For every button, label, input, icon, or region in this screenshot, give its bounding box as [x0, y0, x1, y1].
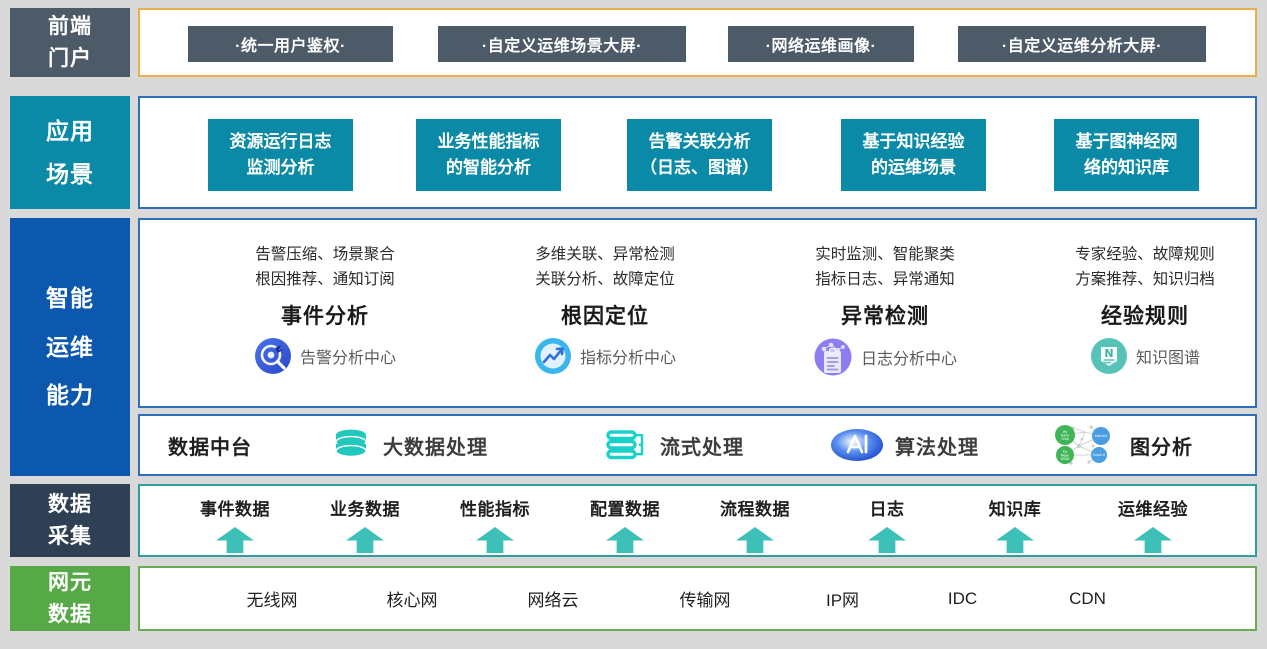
database-icon [330, 428, 372, 462]
collect-item-business-data[interactable]: 业务数据 [296, 486, 434, 555]
net-item-wireless-network[interactable]: 无线网 [212, 568, 332, 629]
collect-item-label: 事件数据 [200, 495, 270, 520]
app-card-line: 告警关联分析 [649, 129, 751, 155]
capability-subtitle: 专家经验、故障规则 [1020, 242, 1267, 267]
net-item-label: 传输网 [680, 586, 731, 611]
capability-subtitle: 实时监测、智能聚类 [760, 242, 1010, 267]
svg-text:N: N [1104, 347, 1113, 360]
data-platform-title: 数据中台 [168, 431, 252, 460]
capability-column-anomaly-detection: 实时监测、智能聚类 指标日志、异常通知 异常检测 [760, 242, 1010, 377]
category-label-line: 数据 [48, 489, 92, 521]
portal-chip-custom-ops-dashboard[interactable]: ·自定义运维场景大屏· [438, 26, 686, 62]
net-item-cdn[interactable]: CDN [1035, 568, 1140, 629]
arrow-up-icon [216, 527, 254, 553]
arrow-up-icon [868, 527, 906, 553]
category-label-line: 运维 [46, 330, 94, 365]
graph-network-icon: IPvNetwGrap FloMeanSNGB Liberate Graph-K [1045, 422, 1119, 468]
arrow-up-icon [476, 527, 514, 553]
app-card-line: 资源运行日志 [230, 129, 332, 155]
net-item-label: 核心网 [387, 586, 438, 611]
collect-item-label: 配置数据 [590, 495, 660, 520]
capability-subtitle: 告警压缩、场景聚合 [200, 242, 450, 267]
portal-panel: ·统一用户鉴权· ·自定义运维场景大屏· ·网络运维画像· ·自定义运维分析大屏… [138, 8, 1257, 77]
category-label-intelligent-ops-capability: 智能 运维 能力 [10, 218, 130, 476]
category-label-frontend-portal: 前端 门户 [10, 8, 130, 77]
capability-subtitle: 关联分析、故障定位 [480, 267, 730, 292]
svg-text:Grap: Grap [1061, 437, 1069, 441]
svg-text:SNGB: SNGB [1061, 457, 1070, 461]
app-card-line: 监测分析 [247, 155, 315, 181]
collect-item-ops-experience[interactable]: 运维经验 [1084, 486, 1222, 555]
ai-capability-panel: 告警压缩、场景聚合 根因推荐、通知订阅 事件分析 [138, 218, 1257, 408]
chip-label: ·自定义运维场景大屏· [482, 32, 642, 56]
arrow-up-icon [996, 527, 1034, 553]
data-collection-panel: 事件数据 业务数据 性能指标 配置数据 流程数据 日志 知识库 运维经验 [138, 484, 1257, 557]
data-platform-item-algorithm[interactable]: 算法处理 [830, 416, 979, 474]
app-card-business-performance-analysis[interactable]: 业务性能指标 的智能分析 [416, 119, 561, 191]
collect-item-process-data[interactable]: 流程数据 [686, 486, 824, 555]
capability-title: 异常检测 [760, 300, 1010, 330]
net-item-label: 网络云 [528, 586, 579, 611]
category-label-line: 门户 [48, 43, 92, 75]
alarm-analysis-icon [254, 337, 292, 375]
data-platform-item-label: 图分析 [1130, 431, 1193, 460]
architecture-diagram: 前端 门户 ·统一用户鉴权· ·自定义运维场景大屏· ·网络运维画像· ·自定义… [0, 0, 1267, 649]
app-card-knowledge-based-ops[interactable]: 基于知识经验 的运维场景 [841, 119, 986, 191]
collect-item-event-data[interactable]: 事件数据 [166, 486, 304, 555]
data-platform-item-label: 大数据处理 [383, 431, 488, 460]
app-card-line: 基于图神经网 [1076, 129, 1178, 155]
app-card-gnn-knowledge-base[interactable]: 基于图神经网 络的知识库 [1054, 119, 1199, 191]
network-element-panel: 无线网 核心网 网络云 传输网 IP网 IDC CDN [138, 566, 1257, 631]
metric-analysis-icon [534, 337, 572, 375]
category-label-line: 能力 [46, 378, 94, 413]
collect-item-knowledge-base[interactable]: 知识库 [946, 486, 1084, 555]
data-platform-item-graph[interactable]: IPvNetwGrap FloMeanSNGB Liberate Graph-K… [1045, 416, 1193, 474]
data-platform-title-item: 数据中台 [168, 416, 252, 474]
net-item-network-cloud[interactable]: 网络云 [493, 568, 613, 629]
knowledge-graph-icon: N [1090, 337, 1128, 375]
ai-icon [830, 427, 884, 463]
data-platform-item-label: 算法处理 [895, 431, 979, 460]
app-card-resource-log-monitoring[interactable]: 资源运行日志 监测分析 [208, 119, 353, 191]
collect-item-label: 日志 [870, 495, 905, 520]
net-item-idc[interactable]: IDC [910, 568, 1015, 629]
net-item-ip-network[interactable]: IP网 [790, 568, 895, 629]
arrow-up-icon [1134, 527, 1172, 553]
capability-icon-label: 指标分析中心 [580, 344, 676, 368]
data-platform-panel: 数据中台 大数据处理 [138, 414, 1257, 476]
portal-chip-custom-analysis-dashboard[interactable]: ·自定义运维分析大屏· [958, 26, 1206, 62]
capability-column-experience-rules: 专家经验、故障规则 方案推荐、知识归档 经验规则 N 知识图谱 [1020, 242, 1267, 375]
arrow-up-icon [606, 527, 644, 553]
app-card-line: 的智能分析 [446, 155, 531, 181]
capability-subtitle: 方案推荐、知识归档 [1020, 267, 1267, 292]
category-label-line: 网元 [48, 567, 92, 599]
net-item-label: 无线网 [247, 586, 298, 611]
category-label-line: 智能 [46, 281, 94, 316]
capability-subtitle: 根因推荐、通知订阅 [200, 267, 450, 292]
category-label-network-element-data: 网元 数据 [10, 566, 130, 631]
category-label-line: 场景 [46, 157, 94, 192]
collect-item-label: 业务数据 [330, 495, 400, 520]
portal-chip-unified-auth[interactable]: ·统一用户鉴权· [188, 26, 393, 62]
category-label-line: 数据 [48, 599, 92, 631]
chip-label: ·网络运维画像· [766, 32, 877, 56]
collect-item-label: 性能指标 [460, 495, 530, 520]
category-label-application-scenario: 应用 场景 [10, 96, 130, 209]
capability-title: 经验规则 [1020, 300, 1267, 330]
data-platform-item-label: 流式处理 [660, 431, 744, 460]
capability-subtitle: 指标日志、异常通知 [760, 267, 1010, 292]
chip-label: ·自定义运维分析大屏· [1002, 32, 1162, 56]
collect-item-config-data[interactable]: 配置数据 [556, 486, 694, 555]
data-platform-item-bigdata[interactable]: 大数据处理 [330, 416, 488, 474]
app-card-line: 的运维场景 [871, 155, 956, 181]
svg-text:Liberate: Liberate [1095, 434, 1108, 438]
app-card-line: （日志、图谱） [640, 155, 759, 181]
arrow-up-icon [736, 527, 774, 553]
app-card-alarm-correlation-analysis[interactable]: 告警关联分析 （日志、图谱） [627, 119, 772, 191]
capability-subtitle: 多维关联、异常检测 [480, 242, 730, 267]
capability-icon-label: 告警分析中心 [300, 344, 396, 368]
category-label-line: 采集 [48, 521, 92, 553]
capability-title: 根因定位 [480, 300, 730, 330]
net-item-label: IP网 [826, 586, 859, 611]
app-card-line: 络的知识库 [1084, 155, 1169, 181]
capability-title: 事件分析 [200, 300, 450, 330]
category-label-line: 前端 [48, 11, 92, 43]
net-item-core-network[interactable]: 核心网 [352, 568, 472, 629]
net-item-label: CDN [1069, 589, 1106, 609]
chip-label: ·统一用户鉴权· [235, 32, 346, 56]
arrow-up-icon [346, 527, 384, 553]
capability-icon-label: 知识图谱 [1136, 344, 1200, 368]
collect-item-label: 运维经验 [1118, 495, 1188, 520]
category-label-line: 应用 [46, 114, 94, 149]
collect-item-label: 流程数据 [720, 495, 790, 520]
category-label-data-collection: 数据 采集 [10, 484, 130, 557]
collect-item-performance-metric[interactable]: 性能指标 [426, 486, 564, 555]
capability-icon-label: 日志分析中心 [861, 345, 957, 369]
application-scenario-panel: 资源运行日志 监测分析 业务性能指标 的智能分析 告警关联分析 （日志、图谱） … [138, 96, 1257, 209]
portal-chip-network-ops-profile[interactable]: ·网络运维画像· [728, 26, 914, 62]
net-item-label: IDC [948, 589, 977, 609]
collect-item-log[interactable]: 日志 [818, 486, 956, 555]
stream-icon [605, 428, 649, 462]
svg-text:Graph-K: Graph-K [1093, 453, 1107, 457]
app-card-line: 基于知识经验 [863, 129, 965, 155]
log-analysis-icon [813, 337, 853, 377]
data-platform-item-stream[interactable]: 流式处理 [605, 416, 744, 474]
capability-column-root-cause-location: 多维关联、异常检测 关联分析、故障定位 根因定位 指标分析中心 [480, 242, 730, 375]
collect-item-label: 知识库 [989, 495, 1042, 520]
capability-column-event-analysis: 告警压缩、场景聚合 根因推荐、通知订阅 事件分析 [200, 242, 450, 375]
net-item-transport-network[interactable]: 传输网 [645, 568, 765, 629]
app-card-line: 业务性能指标 [438, 129, 540, 155]
